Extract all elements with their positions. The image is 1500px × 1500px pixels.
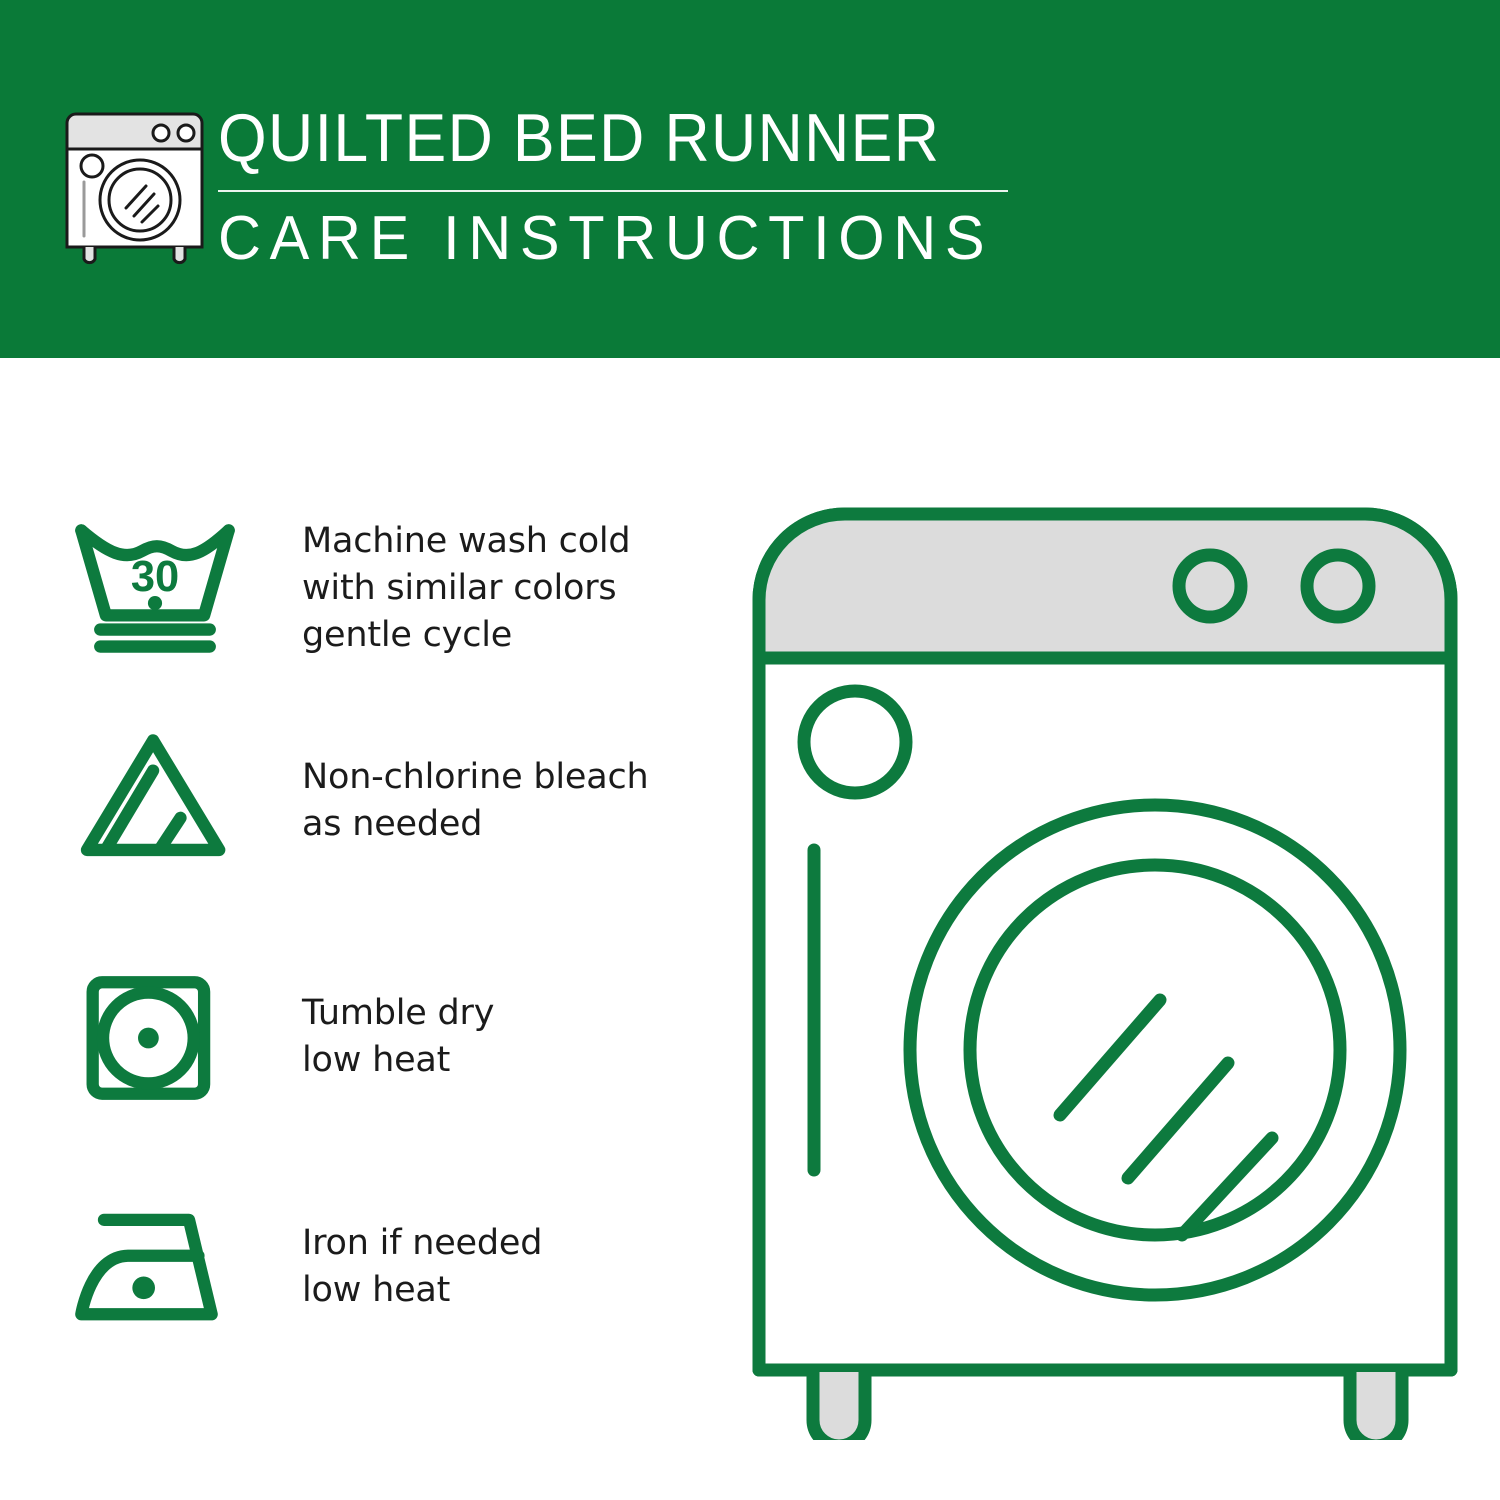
care-line: gentle cycle bbox=[302, 612, 630, 659]
header-text-block: QUILTED BED RUNNER CARE INSTRUCTIONS bbox=[218, 100, 1018, 274]
care-line: Machine wash cold bbox=[302, 518, 630, 565]
page-subtitle: CARE INSTRUCTIONS bbox=[218, 204, 986, 274]
care-text-tumble-dry: Tumble dry low heat bbox=[302, 968, 494, 1084]
care-line: low heat bbox=[302, 1037, 494, 1084]
care-text-machine-wash: Machine wash cold with similar colors ge… bbox=[302, 518, 630, 659]
care-line: as needed bbox=[302, 801, 648, 848]
page-header: QUILTED BED RUNNER CARE INSTRUCTIONS bbox=[0, 0, 1500, 358]
care-line: Iron if needed bbox=[302, 1220, 542, 1267]
knob-left bbox=[1179, 555, 1241, 617]
title-divider bbox=[218, 190, 1008, 192]
page-title: QUILTED BED RUNNER bbox=[218, 100, 954, 176]
iron-low-heat-icon bbox=[70, 1198, 240, 1338]
care-row-machine-wash: 30 Machine wash cold with similar colors… bbox=[70, 518, 670, 659]
care-line: Tumble dry bbox=[302, 990, 494, 1037]
care-text-iron: Iron if needed low heat bbox=[302, 1198, 542, 1314]
knob-right bbox=[1307, 555, 1369, 617]
foot-right bbox=[1350, 1372, 1402, 1440]
wash-tub-30-gentle-icon: 30 bbox=[70, 518, 240, 658]
door-inner-ring bbox=[970, 865, 1340, 1235]
washing-machine-icon bbox=[62, 104, 207, 269]
care-line: Non-chlorine bleach bbox=[302, 754, 648, 801]
care-instructions-page: QUILTED BED RUNNER CARE INSTRUCTIONS 30 bbox=[0, 0, 1500, 1500]
care-line: with similar colors bbox=[302, 565, 630, 612]
care-line: low heat bbox=[302, 1267, 542, 1314]
care-symbol-list: 30 Machine wash cold with similar colors… bbox=[0, 358, 700, 1500]
care-row-iron: Iron if needed low heat bbox=[70, 1198, 670, 1338]
care-text-bleach: Non-chlorine bleach as needed bbox=[302, 728, 648, 848]
care-row-bleach: Non-chlorine bleach as needed bbox=[70, 728, 670, 868]
tumble-dry-low-heat-icon bbox=[70, 968, 240, 1108]
detergent-port bbox=[804, 691, 906, 793]
non-chlorine-bleach-triangle-icon bbox=[70, 728, 240, 868]
care-row-tumble-dry: Tumble dry low heat bbox=[70, 968, 670, 1108]
wash-temperature-label: 30 bbox=[131, 553, 179, 601]
foot-left bbox=[813, 1372, 865, 1440]
large-washing-machine-illustration bbox=[735, 490, 1475, 1440]
